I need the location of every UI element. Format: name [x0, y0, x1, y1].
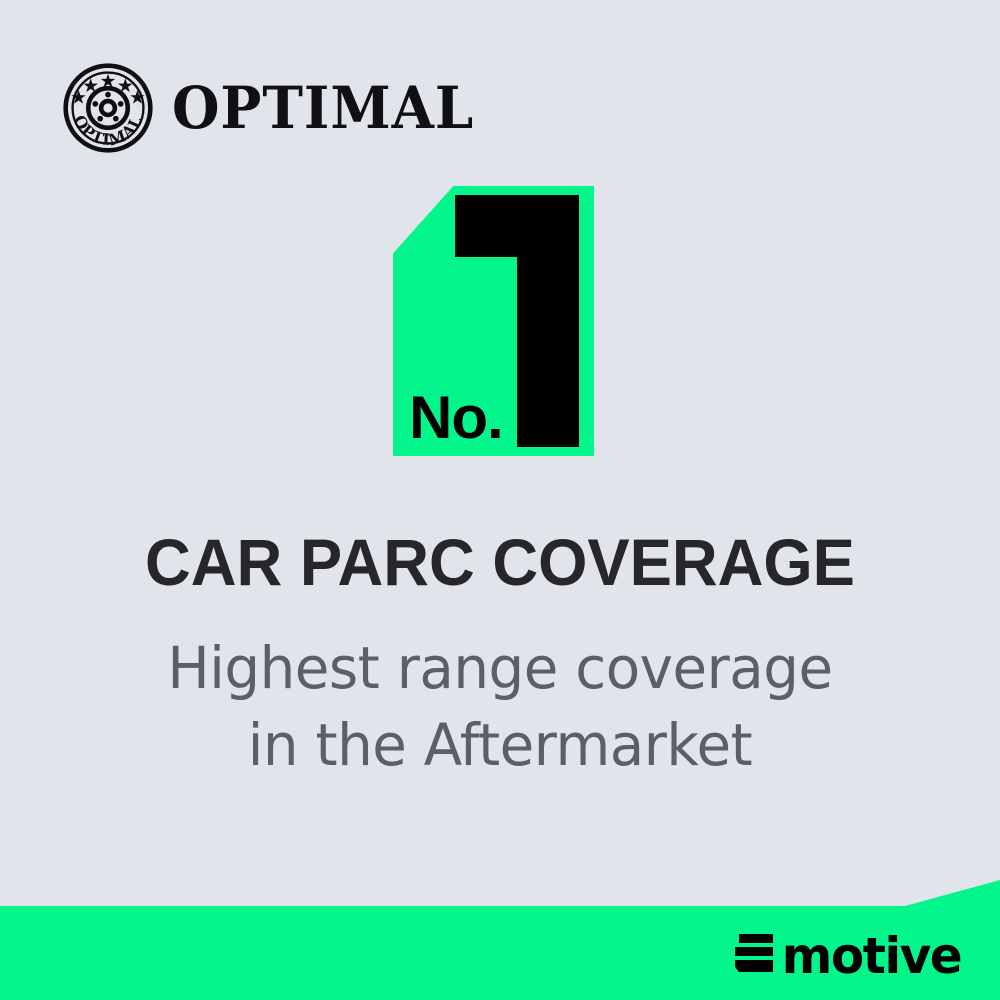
subtitle-line-2: in the Aftermarket — [15, 707, 985, 784]
numeral-stem — [517, 195, 579, 447]
promo-card: OPTIMAL OPTIMAL No. CAR PARC COVERAGE Hi… — [0, 0, 1000, 1000]
rank-badge-prefix: No. — [409, 388, 503, 448]
page-title: CAR PARC COVERAGE — [20, 528, 980, 597]
emotive-logo-word: motive — [782, 935, 961, 978]
brand-wordmark: OPTIMAL — [172, 79, 474, 137]
brand-lockup: OPTIMAL OPTIMAL — [62, 62, 493, 154]
footer-bar: motive — [0, 880, 1000, 1000]
emotive-e-icon — [735, 934, 777, 978]
emotive-logo: motive — [735, 934, 964, 978]
rank-badge: No. — [393, 186, 594, 456]
page-subtitle: Highest range coverage in the Aftermarke… — [15, 630, 985, 784]
optimal-wheel-badge-icon: OPTIMAL — [62, 62, 154, 154]
svg-text:OPTIMAL: OPTIMAL — [70, 112, 146, 150]
subtitle-line-1: Highest range coverage — [15, 630, 985, 707]
